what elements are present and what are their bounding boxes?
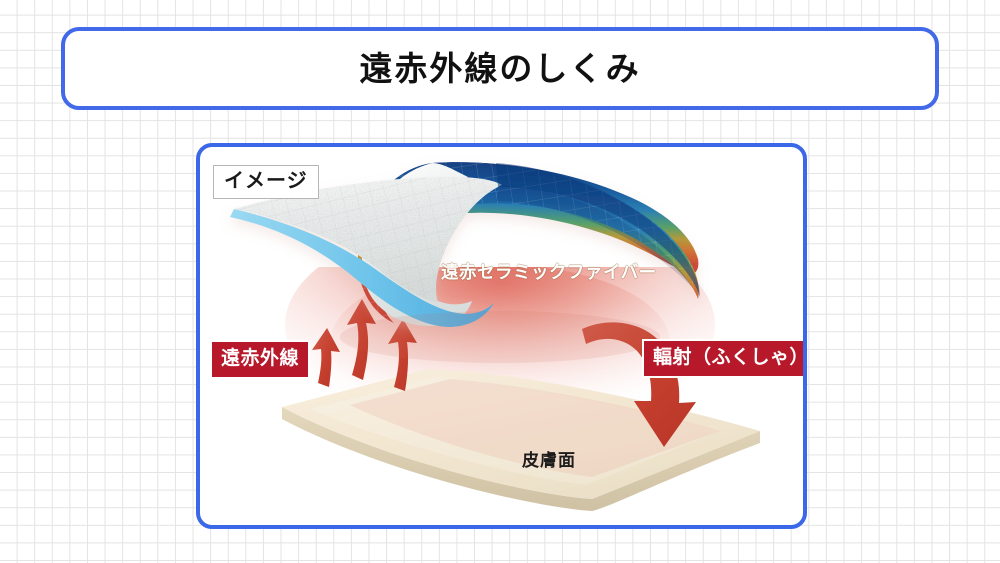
fiber-caption-label: 遠赤セラミックファイバー: [441, 264, 657, 282]
page-title: 遠赤外線のしくみ: [359, 52, 640, 85]
chip-far-infrared: 遠赤外線: [210, 340, 310, 379]
skin-surface-slab: [282, 369, 760, 511]
chip-radiation: 輻射（ふくしゃ）: [642, 339, 807, 378]
image-caption-chip: イメージ: [213, 165, 319, 199]
illustration-panel: イメージ 遠赤セラミックファイバー 遠赤外線 輻射（ふくしゃ） 皮膚面: [196, 143, 807, 529]
page-background: 遠赤外線のしくみ: [0, 0, 1000, 563]
diagram-stage: イメージ 遠赤セラミックファイバー 遠赤外線 輻射（ふくしゃ） 皮膚面: [200, 147, 803, 525]
far-infrared-diagram: [200, 147, 803, 525]
fabric-shadow: [340, 311, 660, 363]
title-banner: 遠赤外線のしくみ: [61, 27, 939, 110]
skin-surface-label: 皮膚面: [522, 452, 576, 469]
